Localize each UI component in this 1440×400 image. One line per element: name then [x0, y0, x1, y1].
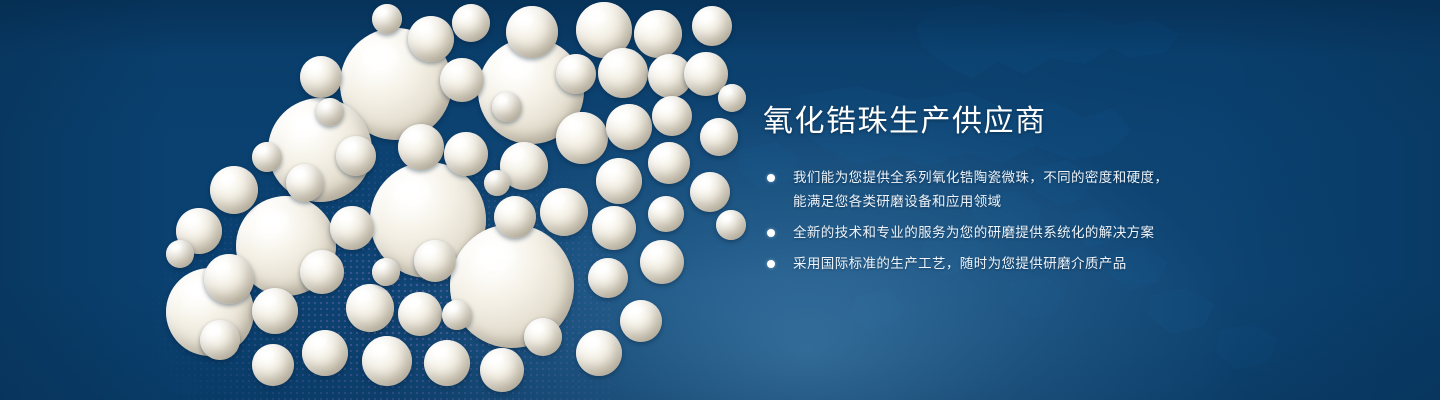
bead	[640, 240, 684, 284]
bead	[414, 240, 456, 282]
bead	[300, 56, 342, 98]
bead	[492, 92, 522, 122]
list-item-line: 能满足您各类研磨设备和应用领域	[793, 190, 1323, 214]
bead	[596, 158, 642, 204]
bead	[652, 96, 692, 136]
bead	[588, 258, 628, 298]
bead	[540, 188, 588, 236]
list-item: 全新的技术和专业的服务为您的研磨提供系统化的解决方案	[763, 221, 1323, 245]
bead	[424, 340, 470, 386]
bead	[286, 164, 324, 202]
bead	[372, 258, 400, 286]
bead	[692, 6, 732, 46]
list-item-line: 全新的技术和专业的服务为您的研磨提供系统化的解决方案	[793, 221, 1323, 245]
bead	[336, 136, 376, 176]
bead	[718, 84, 746, 112]
bead	[576, 330, 622, 376]
bead	[210, 166, 258, 214]
bead	[592, 206, 636, 250]
list-item: 采用国际标准的生产工艺，随时为您提供研磨介质产品	[763, 252, 1323, 276]
bead	[444, 132, 488, 176]
bead	[398, 124, 444, 170]
bead	[204, 254, 254, 304]
bead	[302, 330, 348, 376]
bead	[252, 142, 282, 172]
bead	[598, 48, 648, 98]
bead	[716, 210, 746, 240]
bead	[398, 292, 442, 336]
bead	[200, 320, 240, 360]
bead	[620, 300, 662, 342]
list-item-line: 采用国际标准的生产工艺，随时为您提供研磨介质产品	[793, 252, 1323, 276]
bead	[252, 288, 298, 334]
bullet-dot-icon	[767, 229, 775, 237]
bead	[506, 6, 558, 58]
zirconia-beads-photo	[0, 0, 760, 400]
bead	[252, 344, 294, 386]
bead	[700, 118, 738, 156]
bead	[648, 196, 684, 232]
bead	[480, 348, 524, 392]
bead	[300, 250, 344, 294]
list-item: 我们能为您提供全系列氧化锆陶瓷微珠，不同的密度和硬度， 能满足您各类研磨设备和应…	[763, 166, 1323, 214]
bead	[330, 206, 374, 250]
page-title: 氧化锆珠生产供应商	[763, 104, 1323, 140]
banner-copy: 氧化锆珠生产供应商 我们能为您提供全系列氧化锆陶瓷微珠，不同的密度和硬度， 能满…	[763, 104, 1323, 276]
bead	[494, 196, 536, 238]
bead	[648, 142, 690, 184]
bead	[316, 98, 344, 126]
bead	[442, 300, 472, 330]
feature-list: 我们能为您提供全系列氧化锆陶瓷微珠，不同的密度和硬度， 能满足您各类研磨设备和应…	[763, 166, 1323, 276]
bullet-dot-icon	[767, 260, 775, 268]
bead	[372, 4, 402, 34]
bead	[524, 318, 562, 356]
bullet-dot-icon	[767, 174, 775, 182]
hero-banner: 氧化锆珠生产供应商 我们能为您提供全系列氧化锆陶瓷微珠，不同的密度和硬度， 能满…	[0, 0, 1440, 400]
bead	[634, 10, 682, 58]
bead	[362, 336, 412, 386]
bead	[606, 104, 652, 150]
bead	[484, 170, 510, 196]
bead	[452, 4, 490, 42]
bead	[440, 58, 484, 102]
bead	[346, 284, 394, 332]
bead	[556, 54, 596, 94]
bead	[556, 112, 608, 164]
bead	[408, 16, 454, 62]
list-item-line: 我们能为您提供全系列氧化锆陶瓷微珠，不同的密度和硬度，	[793, 166, 1323, 190]
bead	[690, 172, 730, 212]
bead	[166, 240, 194, 268]
